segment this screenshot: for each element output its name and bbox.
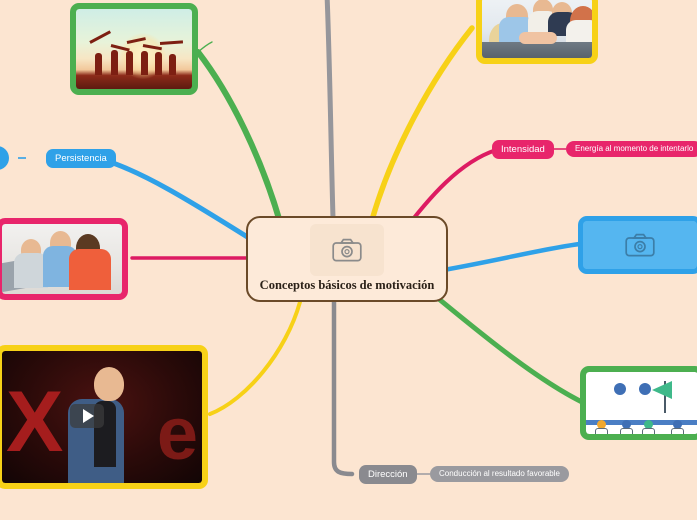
central-image-placeholder[interactable]	[310, 224, 384, 276]
node-direccion-child-label: Conducción al resultado favorable	[439, 470, 560, 478]
joined-hands	[519, 32, 556, 44]
node-partial-left[interactable]: ón	[0, 146, 9, 170]
blue-placeholder-body	[583, 221, 697, 269]
card-team-hands[interactable]	[476, 0, 598, 64]
card-tedx-video[interactable]: X e	[0, 345, 208, 489]
card-celebration-laptop[interactable]	[0, 218, 128, 300]
card-relay-race-image	[586, 372, 697, 434]
central-node-title: Conceptos básicos de motivación	[260, 278, 435, 293]
node-intensidad-child-label: Energía al momento de intentarlo	[575, 145, 693, 153]
card-blue-placeholder[interactable]	[578, 216, 697, 274]
table-surface	[482, 42, 592, 58]
tedx-e-letter: e	[157, 404, 198, 463]
card-team-hands-image	[482, 0, 592, 58]
art-relay-race	[586, 372, 697, 434]
node-partial-left-label: ón	[0, 153, 1, 163]
node-persistencia[interactable]: Persistencia	[46, 149, 116, 168]
node-direccion-child[interactable]: Conducción al resultado favorable	[430, 466, 569, 482]
card-tedx-video-image: X e	[2, 351, 202, 483]
node-intensidad-label: Intensidad	[501, 145, 545, 155]
card-relay-race[interactable]	[580, 366, 697, 440]
art-sunset	[76, 9, 192, 89]
node-persistencia-label: Persistencia	[55, 154, 107, 164]
tedx-x-letter: X	[6, 388, 59, 457]
node-intensidad-child[interactable]: Energía al momento de intentarlo	[566, 141, 697, 157]
art-team-hands	[482, 0, 592, 58]
art-celebration	[2, 224, 122, 294]
mindmap-canvas[interactable]: Conceptos básicos de motivación Intensid…	[0, 0, 697, 520]
goal-flag-icon	[652, 381, 672, 399]
play-button[interactable]	[70, 404, 104, 428]
medal-icon	[639, 383, 651, 395]
speaker-head	[94, 367, 124, 401]
card-celebration-laptop-image	[2, 224, 122, 294]
node-direccion[interactable]: Dirección	[359, 465, 417, 484]
node-intensidad[interactable]: Intensidad	[492, 140, 554, 159]
node-direccion-label: Dirección	[368, 470, 408, 480]
central-node[interactable]: Conceptos básicos de motivación	[246, 216, 448, 302]
camera-icon	[625, 233, 655, 257]
card-teamwork-chart[interactable]	[70, 3, 198, 95]
play-icon	[83, 409, 94, 423]
card-teamwork-chart-image	[76, 9, 192, 89]
camera-icon	[332, 238, 362, 262]
medal-icon	[614, 383, 626, 395]
